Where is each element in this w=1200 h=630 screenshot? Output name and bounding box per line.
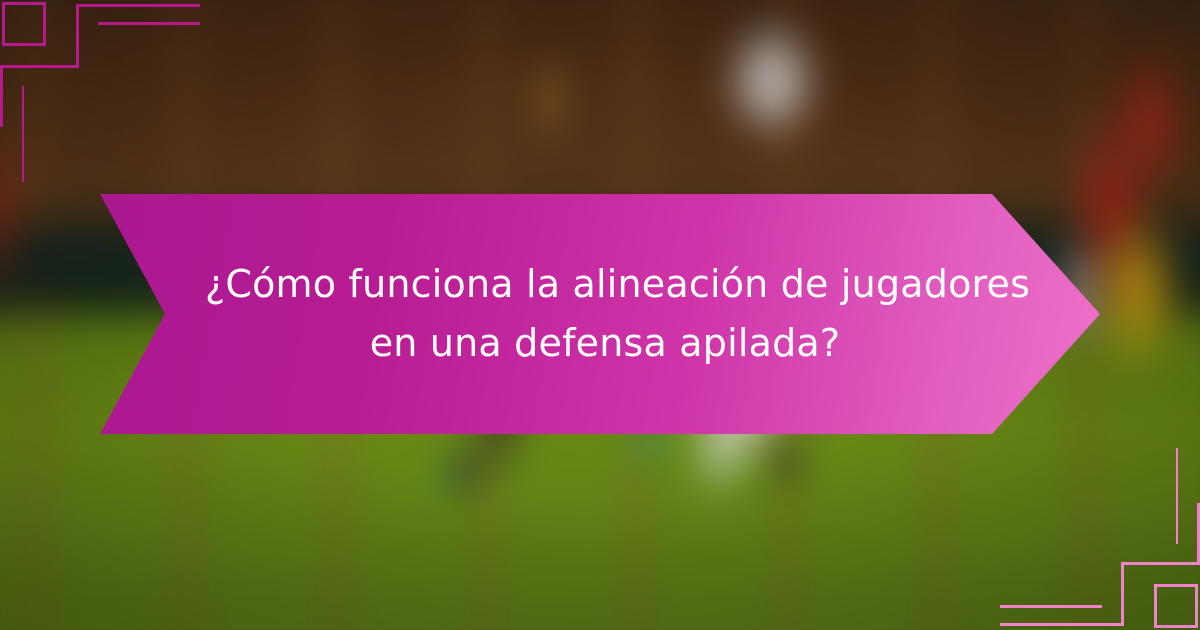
corner-line-vertical bbox=[76, 4, 79, 68]
headline-line-1: ¿Cómo funciona la alineación de jugadore… bbox=[205, 255, 1005, 314]
corner-line-tail bbox=[1176, 448, 1178, 544]
corner-line-horizontal-2 bbox=[0, 65, 79, 68]
corner-line-tail bbox=[22, 86, 24, 182]
corner-square-icon bbox=[1154, 584, 1198, 628]
corner-line-vertical-2 bbox=[0, 65, 3, 127]
corner-frame-top-left bbox=[0, 0, 200, 160]
corner-line-inner bbox=[98, 22, 200, 25]
share-card: ¿Cómo funciona la alineación de jugadore… bbox=[0, 0, 1200, 630]
corner-line-horizontal bbox=[1000, 623, 1124, 626]
corner-line-inner bbox=[1000, 605, 1102, 608]
corner-line-horizontal-2 bbox=[1121, 562, 1200, 565]
corner-frame-bottom-right bbox=[1000, 470, 1200, 630]
headline-text: ¿Cómo funciona la alineación de jugadore… bbox=[205, 255, 1005, 373]
corner-square-icon bbox=[2, 2, 46, 46]
corner-line-vertical bbox=[1121, 562, 1124, 626]
headline-line-2: en una defensa apilada? bbox=[205, 314, 1005, 373]
corner-line-horizontal bbox=[76, 4, 200, 7]
headline-banner: ¿Cómo funciona la alineación de jugadore… bbox=[100, 194, 1100, 434]
